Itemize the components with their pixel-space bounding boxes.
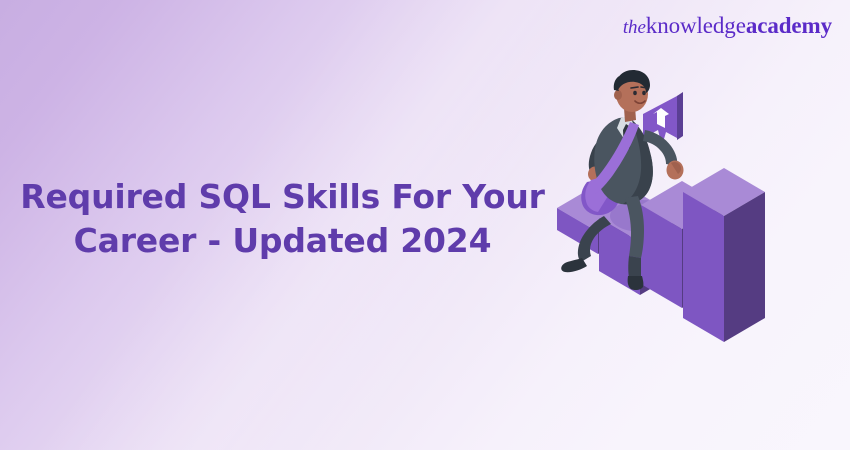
logo-word-knowledge: knowledge: [646, 13, 746, 38]
page-title-line-2: Career - Updated 2024: [20, 219, 545, 263]
brand-logo[interactable]: theknowledgeacademy: [623, 14, 832, 37]
step-block-4: [683, 168, 765, 342]
page-title-line-1: Required SQL Skills For Your: [20, 175, 545, 219]
logo-word-the: the: [623, 17, 646, 38]
hero-illustration: [525, 70, 850, 400]
illustration-svg: [525, 70, 850, 400]
banner: theknowledgeacademy Required SQL Skills …: [0, 0, 850, 450]
logo-word-academy: academy: [746, 13, 832, 38]
page-title: Required SQL Skills For Your Career - Up…: [20, 175, 545, 263]
